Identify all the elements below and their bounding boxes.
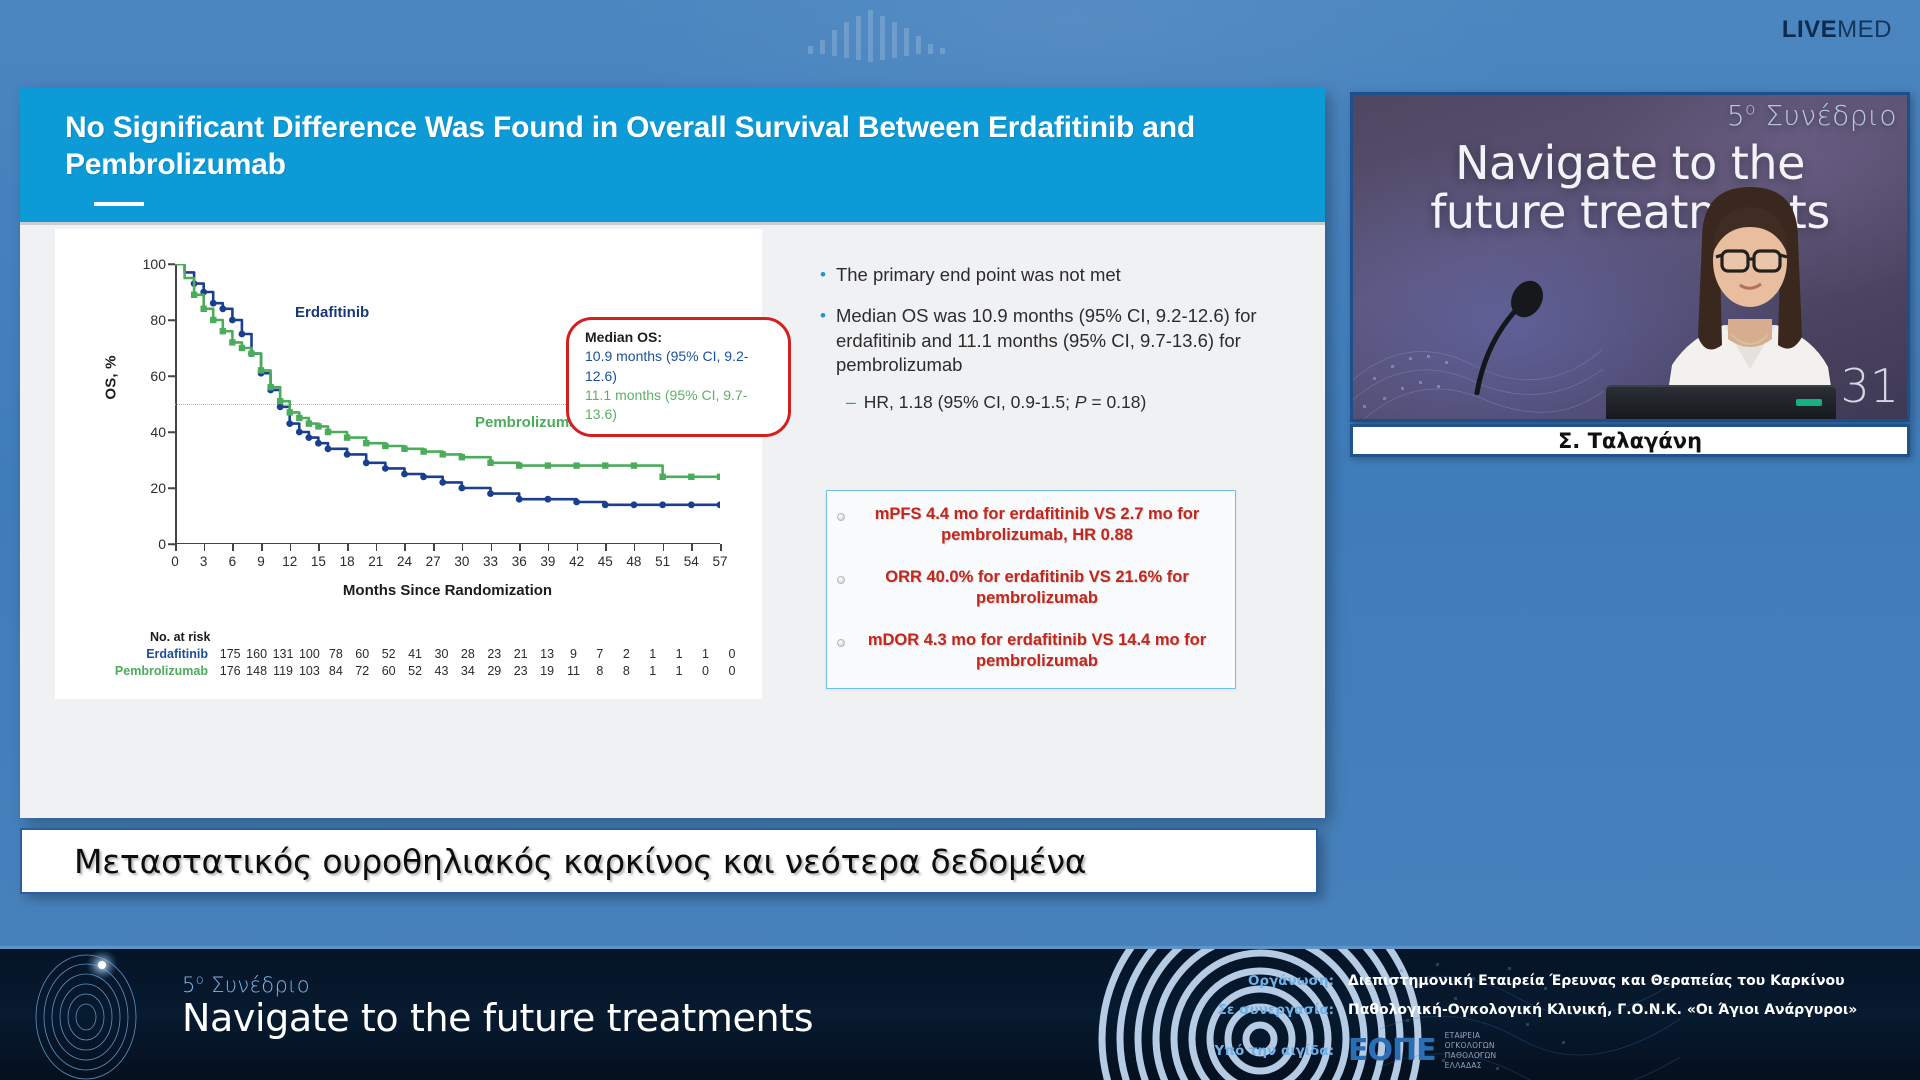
risk-cell: 1 xyxy=(666,647,692,661)
key-result-text: mDOR 4.3 mo for erdafitinib VS 14.4 mo f… xyxy=(853,630,1221,673)
risk-cell: 0 xyxy=(719,664,745,678)
x-tick-mark xyxy=(691,544,693,551)
list-item: • Median OS was 10.9 months (95% CI, 9.2… xyxy=(820,304,1260,377)
x-tick-label: 54 xyxy=(684,554,699,569)
x-tick-label: 6 xyxy=(229,554,237,569)
censor-mark xyxy=(305,434,312,441)
speaker-name-bar: Σ. Ταλαγάνη xyxy=(1350,424,1910,457)
risk-cell: 1 xyxy=(640,647,666,661)
risk-cell: 43 xyxy=(428,664,454,678)
risk-cell: 131 xyxy=(270,647,296,661)
censor-mark xyxy=(401,446,407,452)
x-tick-label: 42 xyxy=(569,554,584,569)
censor-mark xyxy=(401,471,408,478)
y-tick-mark xyxy=(168,543,175,545)
censor-mark xyxy=(344,434,350,440)
session-title-bar: Μεταστατικός ουροθηλιακός καρκίνος και ν… xyxy=(20,828,1318,894)
list-item: mPFS 4.4 mo for erdafitinib VS 2.7 mo fo… xyxy=(837,504,1221,547)
censor-mark xyxy=(239,331,246,338)
x-tick-label: 30 xyxy=(454,554,469,569)
censor-mark xyxy=(325,429,331,435)
y-tick-mark xyxy=(168,431,175,433)
y-tick-label: 0 xyxy=(158,536,166,552)
bullet-dot-icon: • xyxy=(820,304,826,377)
censor-mark xyxy=(688,501,695,508)
risk-cell: 28 xyxy=(455,647,481,661)
x-tick-label: 51 xyxy=(655,554,670,569)
censor-mark xyxy=(631,501,638,508)
censor-mark xyxy=(458,485,465,492)
x-tick-label: 33 xyxy=(483,554,498,569)
censor-mark xyxy=(229,317,236,324)
y-tick-mark xyxy=(168,263,175,265)
x-tick-label: 36 xyxy=(512,554,527,569)
risk-cell: 1 xyxy=(640,664,666,678)
risk-cell: 1 xyxy=(666,664,692,678)
x-tick-mark xyxy=(175,544,177,551)
risk-cell: 52 xyxy=(402,664,428,678)
laptop-silhouette xyxy=(1606,385,1836,419)
slide-header: No Significant Difference Was Found in O… xyxy=(20,88,1325,222)
risk-cell: 8 xyxy=(587,664,613,678)
risk-cell: 100 xyxy=(296,647,322,661)
risk-cell: 160 xyxy=(243,647,269,661)
slide-bullet-list: • The primary end point was not met • Me… xyxy=(820,263,1260,414)
number-at-risk-table: No. at risk Erdafitinib17516013110078605… xyxy=(85,630,745,681)
y-tick-mark xyxy=(168,319,175,321)
risk-cell: 29 xyxy=(481,664,507,678)
censor-mark xyxy=(258,367,264,373)
eope-logo-subtext: ΕΤΑΙΡΕΙΑΟΓΚΟΛΟΓΩΝΠΑΘΟΛΟΓΩΝΕΛΛΑΔΑΣ xyxy=(1445,1031,1497,1071)
eope-sub-line: ΠΑΘΟΛΟΓΩΝ xyxy=(1445,1051,1497,1061)
x-tick-label: 21 xyxy=(368,554,383,569)
x-tick-label: 48 xyxy=(626,554,641,569)
risk-cell: 23 xyxy=(481,647,507,661)
censor-mark xyxy=(210,317,216,323)
presentation-slide: No Significant Difference Was Found in O… xyxy=(20,88,1325,818)
x-tick-label: 39 xyxy=(540,554,555,569)
x-tick-mark xyxy=(663,544,665,551)
x-tick-mark xyxy=(634,544,636,551)
x-tick-mark xyxy=(462,544,464,551)
livemed-logo: LIVEMED xyxy=(1782,18,1892,42)
median-os-heading: Median OS: xyxy=(585,328,774,347)
risk-cell: 34 xyxy=(455,664,481,678)
censor-mark xyxy=(363,440,369,446)
risk-cell: 103 xyxy=(296,664,322,678)
footer-conference-ordinal: 5ο Συνέδριο xyxy=(182,973,813,997)
x-tick-mark xyxy=(433,544,435,551)
risk-cell: 7 xyxy=(587,647,613,661)
dash-icon: – xyxy=(846,391,856,415)
censor-mark xyxy=(267,384,273,390)
x-tick-mark xyxy=(261,544,263,551)
censor-mark xyxy=(315,440,322,447)
y-tick-label: 40 xyxy=(150,424,166,440)
risk-cell: 30 xyxy=(428,647,454,661)
x-tick-label: 12 xyxy=(282,554,297,569)
session-title: Μεταστατικός ουροθηλιακός καρκίνος και ν… xyxy=(22,842,1086,881)
risk-cell: 2 xyxy=(613,647,639,661)
median-os-callout: Median OS: 10.9 months (95% CI, 9.2-12.6… xyxy=(566,317,791,437)
censor-mark xyxy=(200,306,206,312)
x-tick-mark xyxy=(404,544,406,551)
risk-cell: 175 xyxy=(217,647,243,661)
risk-table-caption: No. at risk xyxy=(150,630,745,644)
censor-mark xyxy=(659,501,666,508)
risk-cell: 119 xyxy=(270,664,296,678)
censor-mark xyxy=(248,350,254,356)
kaplan-meier-plot: OS, % 020406080100 036912151821242730333… xyxy=(175,264,720,544)
x-tick-mark xyxy=(204,544,206,551)
risk-cell: 23 xyxy=(507,664,533,678)
censor-mark xyxy=(325,445,332,452)
credit-label: Σε συνεργασία: xyxy=(1202,1002,1348,1018)
credit-row: Σε συνεργασία: Παθολογική-Ογκολογική Κλι… xyxy=(1202,1002,1882,1018)
censor-mark xyxy=(602,462,608,468)
x-tick-label: 15 xyxy=(311,554,326,569)
y-tick-label: 80 xyxy=(150,312,166,328)
censor-mark xyxy=(382,443,388,449)
bullet-sphere-icon xyxy=(837,639,845,647)
censor-mark xyxy=(545,462,551,468)
eope-logo-mark: ΕΟΠΕ xyxy=(1348,1036,1436,1066)
footer-node-graphic xyxy=(20,949,160,1080)
laptop-indicator xyxy=(1796,399,1822,406)
x-tick-label: 27 xyxy=(426,554,441,569)
bullet-dot-icon: • xyxy=(820,263,826,287)
risk-cell: 8 xyxy=(613,664,639,678)
x-tick-mark xyxy=(519,544,521,551)
credit-value: Παθολογική-Ογκολογική Κλινική, Γ.Ο.Ν.Κ. … xyxy=(1348,1002,1857,1018)
censor-mark xyxy=(440,451,446,457)
risk-cell: 60 xyxy=(375,664,401,678)
sub-list-item: – HR, 1.18 (95% CI, 0.9-1.5; P = 0.18) xyxy=(846,391,1260,415)
x-tick-mark xyxy=(290,544,292,551)
credit-label: Υπό την αιγίδα: xyxy=(1202,1043,1348,1059)
x-tick-mark xyxy=(232,544,234,551)
censor-mark xyxy=(631,462,637,468)
bullet-sphere-icon xyxy=(837,513,845,521)
survival-chart-panel: OS, % 020406080100 036912151821242730333… xyxy=(55,229,762,699)
slide-title: No Significant Difference Was Found in O… xyxy=(65,110,1295,183)
censor-mark xyxy=(296,429,303,436)
risk-cell: 9 xyxy=(560,647,586,661)
risk-cell: 0 xyxy=(719,647,745,661)
x-tick-label: 18 xyxy=(340,554,355,569)
x-tick-label: 57 xyxy=(712,554,727,569)
eope-logo: ΕΟΠΕ ΕΤΑΙΡΕΙΑΟΓΚΟΛΟΓΩΝΠΑΘΟΛΟΓΩΝΕΛΛΑΔΑΣ xyxy=(1348,1031,1496,1071)
censor-mark xyxy=(210,300,217,307)
credit-row: Οργάνωση: Διεπιστημονική Εταιρεία Έρευνα… xyxy=(1202,973,1882,989)
censor-mark xyxy=(516,462,522,468)
censor-mark xyxy=(487,460,493,466)
risk-cell: 11 xyxy=(560,664,586,678)
list-item: • The primary end point was not met xyxy=(820,263,1260,287)
censor-mark xyxy=(315,423,321,429)
censor-mark xyxy=(344,451,351,458)
risk-cell: 52 xyxy=(375,647,401,661)
risk-cell: 84 xyxy=(323,664,349,678)
censor-mark xyxy=(459,454,465,460)
livemed-logo-light: MED xyxy=(1837,16,1892,43)
key-result-text: ORR 40.0% for erdafitinib VS 21.6% for p… xyxy=(853,567,1221,610)
eope-sub-line: ΟΓΚΟΛΟΓΩΝ xyxy=(1445,1041,1497,1051)
censor-mark xyxy=(439,479,446,486)
eope-sub-line: ΕΤΑΙΡΕΙΑ xyxy=(1445,1031,1497,1041)
censor-mark xyxy=(306,420,312,426)
censor-mark xyxy=(516,496,523,503)
key-results-box: mPFS 4.4 mo for erdafitinib VS 2.7 mo fo… xyxy=(826,490,1236,689)
key-result-text: mPFS 4.4 mo for erdafitinib VS 2.7 mo fo… xyxy=(853,504,1221,547)
speaker-name: Σ. Ταλαγάνη xyxy=(1558,429,1702,453)
risk-cell: 78 xyxy=(323,647,349,661)
x-tick-mark xyxy=(548,544,550,551)
x-tick-mark xyxy=(720,544,722,551)
risk-cell: 72 xyxy=(349,664,375,678)
subbullet-text: HR, 1.18 (95% CI, 0.9-1.5; P = 0.18) xyxy=(864,391,1147,415)
censor-mark xyxy=(277,403,284,410)
x-tick-mark xyxy=(605,544,607,551)
curve-label-erdafitinib: Erdafitinib xyxy=(295,304,369,321)
title-underline xyxy=(94,202,144,206)
x-tick-mark xyxy=(491,544,493,551)
risk-cell: 0 xyxy=(692,664,718,678)
x-tick-mark xyxy=(376,544,378,551)
risk-cell: 19 xyxy=(534,664,560,678)
x-tick-mark xyxy=(318,544,320,551)
bullet-text: Median OS was 10.9 months (95% CI, 9.2-1… xyxy=(836,304,1260,377)
median-os-erdafitinib: 10.9 months (95% CI, 9.2-12.6) xyxy=(585,347,774,386)
list-item: mDOR 4.3 mo for erdafitinib VS 14.4 mo f… xyxy=(837,630,1221,673)
censor-mark xyxy=(287,409,293,415)
censor-mark xyxy=(659,474,665,480)
censor-mark xyxy=(573,462,579,468)
x-tick-label: 45 xyxy=(598,554,613,569)
censor-mark xyxy=(688,474,694,480)
censor-mark xyxy=(544,496,551,503)
y-tick-mark xyxy=(168,487,175,489)
x-tick-label: 3 xyxy=(200,554,208,569)
censor-mark xyxy=(239,345,245,351)
risk-row-label: Pembrolizumab xyxy=(85,664,217,678)
x-tick-mark xyxy=(577,544,579,551)
video-conference-ordinal: 5ο Συνέδριο xyxy=(1727,99,1897,132)
background-dot-pattern xyxy=(700,0,1220,90)
speaker-video-panel[interactable]: 5ο Συνέδριο Navigate to the future treat… xyxy=(1350,92,1910,422)
y-axis-label: OS, % xyxy=(103,355,120,399)
x-tick-label: 24 xyxy=(397,554,412,569)
censor-mark xyxy=(220,328,226,334)
risk-cell: 60 xyxy=(349,647,375,661)
censor-mark xyxy=(420,448,426,454)
table-row: Pembrolizumab176148119103847260524334292… xyxy=(85,664,745,678)
credit-value: Διεπιστημονική Εταιρεία Έρευνας και Θερα… xyxy=(1348,973,1845,989)
risk-cell: 1 xyxy=(692,647,718,661)
x-axis-label: Months Since Randomization xyxy=(175,582,720,599)
risk-cell: 148 xyxy=(243,664,269,678)
censor-mark xyxy=(277,398,283,404)
censor-mark xyxy=(363,459,370,466)
censor-mark xyxy=(191,292,197,298)
risk-cell: 41 xyxy=(402,647,428,661)
slide-body: OS, % 020406080100 036912151821242730333… xyxy=(20,222,1325,818)
microphone-icon xyxy=(1471,275,1557,395)
footer-conference-title: Navigate to the future treatments xyxy=(182,998,813,1040)
censor-mark xyxy=(602,501,609,508)
footer-bar: 5ο Συνέδριο Navigate to the future treat… xyxy=(0,946,1920,1080)
censor-mark xyxy=(219,305,226,312)
y-tick-mark xyxy=(168,375,175,377)
censor-mark xyxy=(573,499,580,506)
credit-label: Οργάνωση: xyxy=(1202,973,1348,989)
censor-mark xyxy=(717,501,720,508)
risk-cell: 21 xyxy=(507,647,533,661)
credit-row: Υπό την αιγίδα: ΕΟΠΕ ΕΤΑΙΡΕΙΑΟΓΚΟΛΟΓΩΝΠΑ… xyxy=(1202,1031,1882,1071)
censor-mark xyxy=(286,420,293,427)
y-tick-label: 60 xyxy=(150,368,166,384)
risk-row-label: Erdafitinib xyxy=(85,647,217,661)
x-tick-label: 9 xyxy=(257,554,265,569)
censor-mark xyxy=(229,339,235,345)
footer-conference-brand: 5ο Συνέδριο Navigate to the future treat… xyxy=(182,973,813,1040)
y-tick-label: 100 xyxy=(143,256,166,272)
bullet-sphere-icon xyxy=(837,576,845,584)
x-tick-mark xyxy=(347,544,349,551)
list-item: ORR 40.0% for erdafitinib VS 21.6% for p… xyxy=(837,567,1221,610)
speaker-silhouette xyxy=(1620,169,1880,419)
livemed-logo-bold: LIVE xyxy=(1782,16,1837,43)
y-tick-label: 20 xyxy=(150,480,166,496)
median-os-pembrolizumab: 11.1 months (95% CI, 9.7-13.6) xyxy=(585,386,774,425)
risk-cell: 176 xyxy=(217,664,243,678)
censor-mark xyxy=(717,474,720,480)
table-row: Erdafitinib17516013110078605241302823211… xyxy=(85,647,745,661)
bullet-text: The primary end point was not met xyxy=(836,263,1121,287)
censor-mark xyxy=(420,473,427,480)
x-tick-label: 0 xyxy=(171,554,179,569)
censor-mark xyxy=(382,465,389,472)
footer-credits: Οργάνωση: Διεπιστημονική Εταιρεία Έρευνα… xyxy=(1202,973,1882,1080)
risk-cell: 13 xyxy=(534,647,560,661)
censor-mark xyxy=(296,415,302,421)
censor-mark xyxy=(487,490,494,497)
eope-sub-line: ΕΛΛΑΔΑΣ xyxy=(1445,1061,1497,1071)
